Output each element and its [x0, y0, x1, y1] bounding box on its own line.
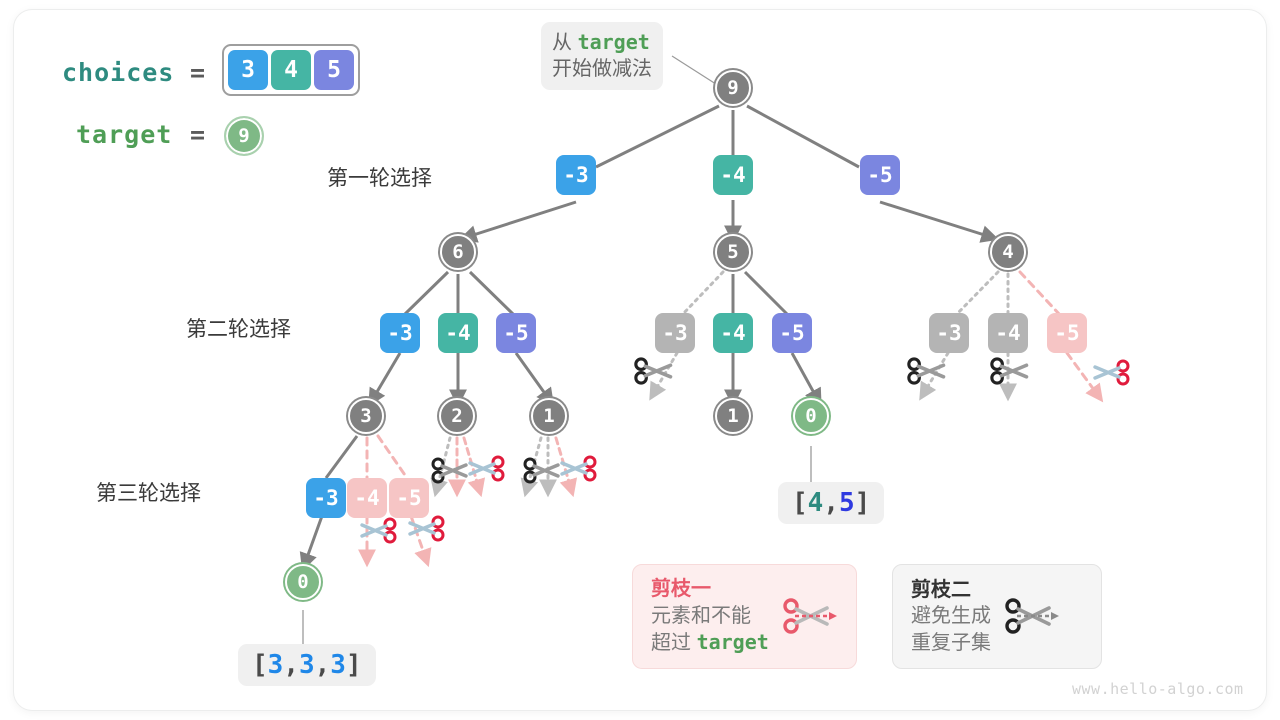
tree-node-0-mid: 0	[793, 398, 829, 434]
result-left-open: [	[252, 650, 268, 680]
legend-two-line2: 重复子集	[911, 630, 991, 657]
root-callout-line2: 开始做减法	[552, 56, 652, 82]
legend-two-title: 剪枝二	[911, 577, 991, 604]
choice-item-1: 4	[271, 50, 311, 90]
result-mid-1: 5	[839, 488, 855, 518]
diagram-canvas: choices = 3 4 5 target = 9 第一轮选择 第二轮选择 第…	[14, 10, 1266, 710]
edge-badge-3-1: -4	[347, 478, 387, 518]
edge-badge-5-0: -3	[655, 313, 695, 353]
scissors-icon-red-4-5	[1095, 361, 1128, 384]
scissors-icon-dark-n2	[433, 459, 466, 482]
legend-one-title: 剪枝一	[651, 576, 769, 603]
legend-two-line1: 避免生成	[911, 603, 991, 630]
legend-two-text: 剪枝二 避免生成 重复子集	[911, 577, 991, 657]
edge-badge-root-2: -5	[860, 155, 900, 195]
tree-node-0-left: 0	[285, 564, 321, 600]
edge-badge-root-0: -3	[556, 155, 596, 195]
result-left-comma-1: ,	[283, 650, 299, 680]
target-label: target	[76, 120, 172, 149]
edge-badge-3-0: -3	[306, 478, 346, 518]
result-left-0: 3	[268, 650, 284, 680]
choices-equals: =	[190, 58, 205, 87]
root-callout-keyword: target	[578, 30, 650, 54]
edge-badge-6-1: -4	[438, 313, 478, 353]
result-left-close: ]	[346, 650, 362, 680]
choice-item-0: 3	[228, 50, 268, 90]
scissors-icon-dark-legend	[1005, 597, 1065, 637]
edge-badge-5-1: -4	[713, 313, 753, 353]
legend-one-keyword: target	[697, 630, 769, 654]
legend-one-line2: 超过 target	[651, 629, 769, 657]
legend-pruning-two: 剪枝二 避免生成 重复子集	[892, 564, 1102, 669]
root-callout-prefix: 从	[552, 32, 578, 54]
edge-badge-4-2: -5	[1047, 313, 1087, 353]
legend-one-line1: 元素和不能	[651, 603, 769, 630]
edge-badge-6-0: -3	[380, 313, 420, 353]
legend-one-line2-prefix: 超过	[651, 632, 697, 654]
choice-item-2: 5	[314, 50, 354, 90]
result-left-2: 3	[330, 650, 346, 680]
choices-label: choices	[62, 58, 174, 87]
round-label-1: 第一轮选择	[327, 162, 432, 192]
result-mid-open: [	[792, 488, 808, 518]
edge-badge-6-2: -5	[496, 313, 536, 353]
tree-node-1-mid: 1	[715, 398, 751, 434]
edge-badge-4-1: -4	[988, 313, 1028, 353]
tree-node-root: 9	[715, 70, 751, 106]
result-left-comma-2: ,	[315, 650, 331, 680]
edge-badge-root-1: -4	[713, 155, 753, 195]
round-label-3: 第三轮选择	[96, 477, 201, 507]
round-label-2: 第二轮选择	[186, 313, 291, 343]
legend-pruning-one: 剪枝一 元素和不能 超过 target	[632, 564, 857, 669]
result-mid-0: 4	[808, 488, 824, 518]
tree-node-2: 2	[439, 398, 475, 434]
tree-node-6: 6	[440, 234, 476, 270]
scissors-icon-red-legend	[783, 597, 843, 637]
edge-badge-3-2: -5	[389, 478, 429, 518]
scissors-icon-dark-4-3	[909, 359, 944, 383]
tree-node-5: 5	[715, 234, 751, 270]
result-box-mid: [4,5]	[778, 482, 884, 524]
edge-badge-4-0: -3	[929, 313, 969, 353]
target-value: 9	[224, 116, 264, 156]
tree-node-3: 3	[348, 398, 384, 434]
edge-badge-5-2: -5	[772, 313, 812, 353]
result-box-left: [3,3,3]	[238, 644, 376, 686]
result-mid-comma: ,	[823, 488, 839, 518]
tree-node-4: 4	[990, 234, 1026, 270]
target-equals: =	[190, 120, 205, 149]
tree-node-1-left: 1	[531, 398, 567, 434]
legend-one-text: 剪枝一 元素和不能 超过 target	[651, 576, 769, 657]
root-callout-line1: 从 target	[552, 29, 652, 56]
result-mid-close: ]	[855, 488, 871, 518]
scissors-icon-dark-n1	[525, 459, 558, 482]
result-left-1: 3	[299, 650, 315, 680]
root-callout: 从 target 开始做减法	[541, 22, 663, 90]
watermark: www.hello-algo.com	[1072, 680, 1244, 698]
choices-list: 3 4 5	[222, 44, 360, 96]
